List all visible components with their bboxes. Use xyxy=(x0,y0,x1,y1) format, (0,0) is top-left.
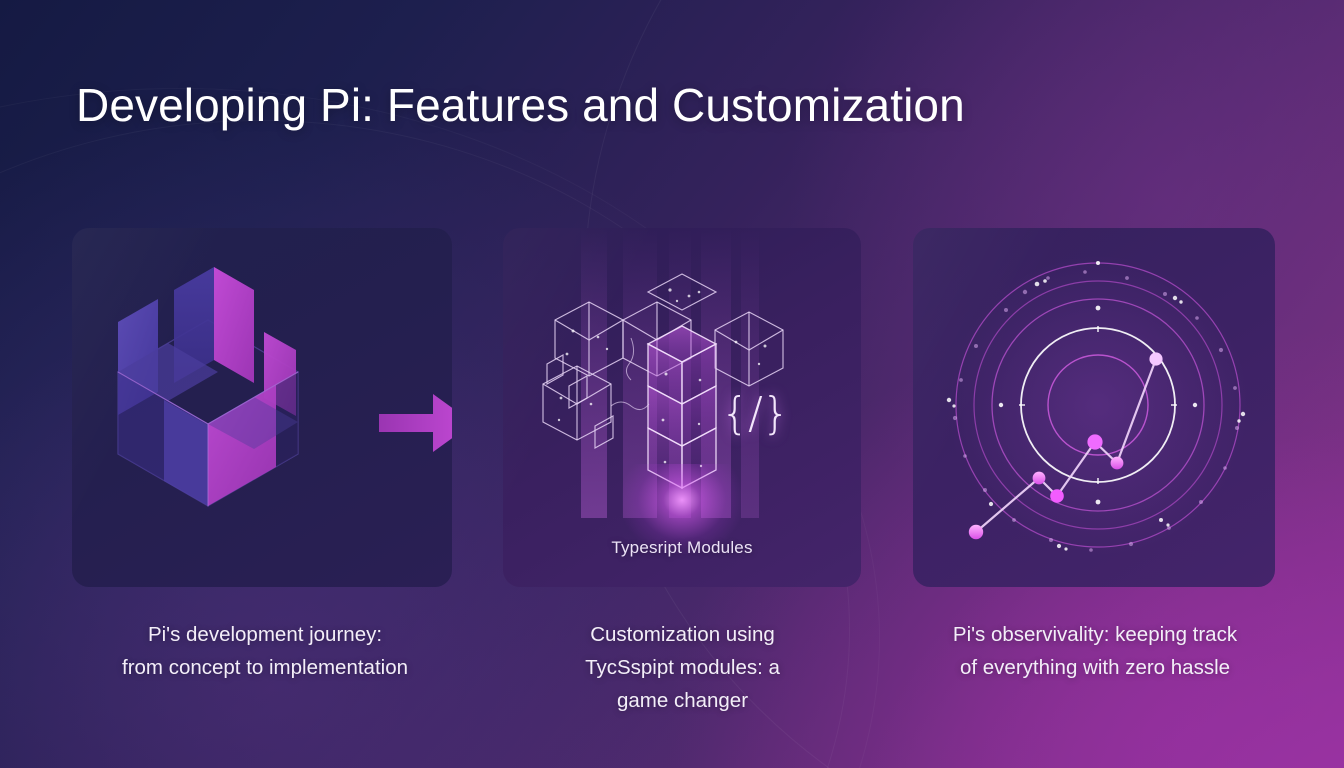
caption-typescript-modules: Customization using TycSspipt modules: a… xyxy=(505,618,860,717)
caption-line: from concept to implementation xyxy=(60,651,470,684)
radar-chart-icon xyxy=(913,228,1275,587)
observability-card[interactable] xyxy=(913,228,1275,587)
page-title: Developing Pi: Features and Customizatio… xyxy=(76,78,965,132)
wireframe-cube-cluster-icon xyxy=(503,234,861,534)
caption-line: Customization using xyxy=(505,618,860,651)
development-journey-card[interactable] xyxy=(72,228,452,587)
caption-development-journey: Pi's development journey: from concept t… xyxy=(60,618,470,684)
code-brackets-icon: {/} xyxy=(721,388,789,439)
arrow-right-icon xyxy=(377,388,452,458)
caption-line: of everything with zero hassle xyxy=(905,651,1285,684)
caption-line: TycSspipt modules: a xyxy=(505,651,860,684)
typescript-modules-card[interactable]: {/} Typesript Modules xyxy=(503,228,861,587)
caption-observability: Pi's observivality: keeping track of eve… xyxy=(905,618,1285,684)
caption-line: Pi's observivality: keeping track xyxy=(905,618,1285,651)
caption-line: Pi's development journey: xyxy=(60,618,470,651)
card-inner-label: Typesript Modules xyxy=(503,538,861,558)
caption-line: game changer xyxy=(505,684,860,717)
slide-root: Developing Pi: Features and Customizatio… xyxy=(0,0,1344,768)
